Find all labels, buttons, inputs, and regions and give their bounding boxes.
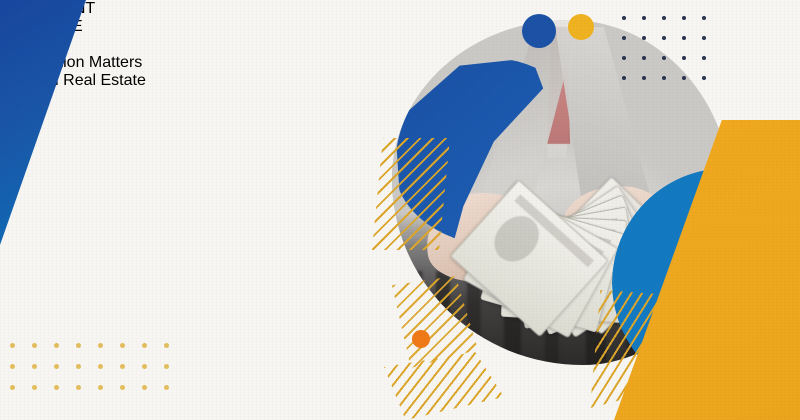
grid-dot bbox=[164, 364, 169, 369]
grid-dot bbox=[682, 16, 686, 20]
grid-dot bbox=[164, 385, 169, 390]
grid-dot bbox=[702, 76, 706, 80]
grid-dot bbox=[98, 385, 103, 390]
grid-dot bbox=[622, 16, 626, 20]
dot-grid-top-right bbox=[622, 16, 722, 96]
grid-dot bbox=[54, 343, 59, 348]
dot-grid-bottom-left bbox=[10, 343, 186, 406]
grid-dot bbox=[76, 343, 81, 348]
grid-dot bbox=[32, 385, 37, 390]
grid-dot bbox=[662, 76, 666, 80]
grid-dot bbox=[142, 343, 147, 348]
grid-dot bbox=[54, 364, 59, 369]
grid-dot bbox=[682, 56, 686, 60]
grid-dot bbox=[702, 56, 706, 60]
grid-dot bbox=[10, 364, 15, 369]
grid-dot bbox=[76, 364, 81, 369]
grid-dot bbox=[164, 343, 169, 348]
grid-dot bbox=[702, 36, 706, 40]
grid-dot bbox=[120, 364, 125, 369]
gold-dot-top bbox=[568, 14, 594, 40]
grid-dot bbox=[622, 36, 626, 40]
grid-dot bbox=[32, 364, 37, 369]
grid-dot bbox=[98, 343, 103, 348]
grid-dot bbox=[142, 364, 147, 369]
blue-dot-top bbox=[522, 14, 556, 48]
grid-dot bbox=[10, 385, 15, 390]
grid-dot bbox=[76, 385, 81, 390]
grid-dot bbox=[10, 343, 15, 348]
grid-dot bbox=[682, 76, 686, 80]
grid-dot bbox=[682, 36, 686, 40]
grid-dot bbox=[622, 76, 626, 80]
grid-dot bbox=[142, 385, 147, 390]
promo-banner: TRAiNPOiNT INSTITUTE Why AML Certificati… bbox=[0, 0, 800, 420]
left-blue-wedge-shape bbox=[0, 0, 86, 245]
grid-dot bbox=[662, 16, 666, 20]
grid-dot bbox=[642, 56, 646, 60]
grid-dot bbox=[120, 343, 125, 348]
grid-dot bbox=[662, 56, 666, 60]
grid-dot bbox=[54, 385, 59, 390]
gold-stripes-left bbox=[372, 138, 450, 250]
grid-dot bbox=[642, 36, 646, 40]
grid-dot bbox=[98, 364, 103, 369]
grid-dot bbox=[642, 76, 646, 80]
grid-dot bbox=[622, 56, 626, 60]
grid-dot bbox=[32, 343, 37, 348]
grid-dot bbox=[702, 16, 706, 20]
grid-dot bbox=[662, 36, 666, 40]
logo-letter: T bbox=[85, 0, 95, 17]
grid-dot bbox=[642, 16, 646, 20]
orange-dot bbox=[412, 330, 430, 348]
grid-dot bbox=[120, 385, 125, 390]
